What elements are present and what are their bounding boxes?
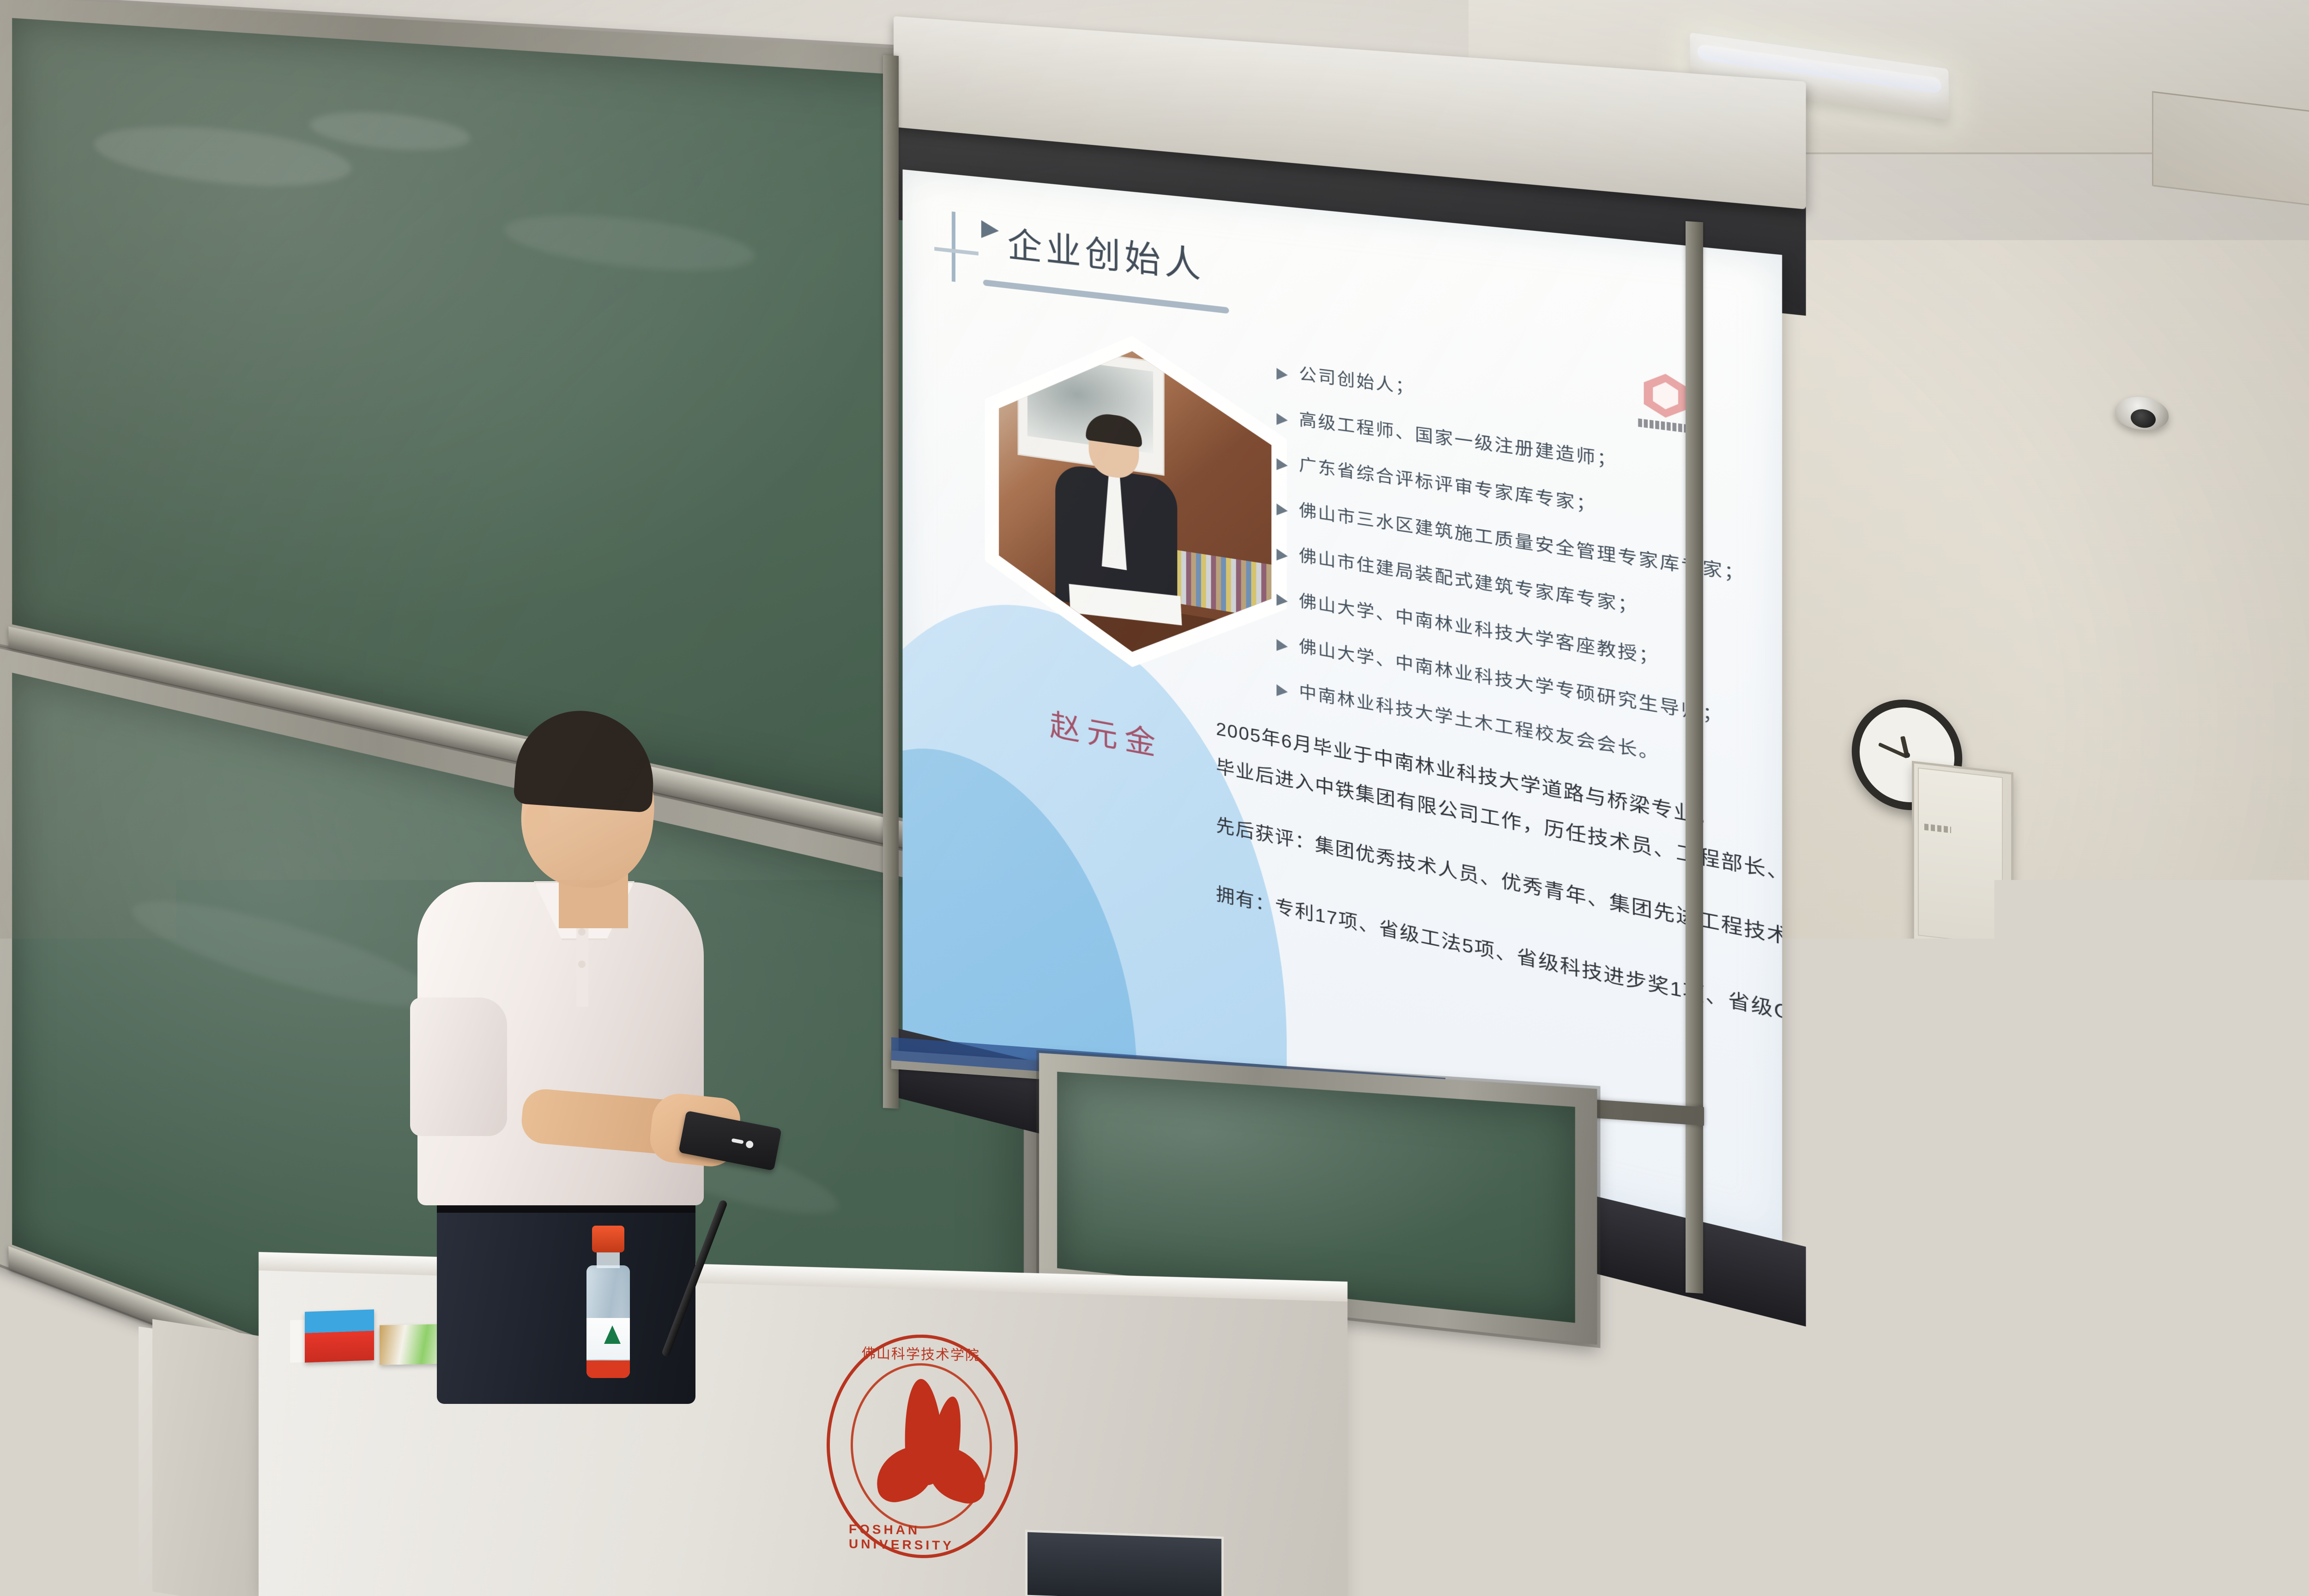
shirt-button <box>578 928 586 936</box>
bottle-label-band <box>586 1360 630 1378</box>
arrow-bullet-icon <box>981 220 999 240</box>
arrow-bullet-icon <box>1276 549 1287 562</box>
shirt-button <box>578 961 586 968</box>
corporate-logo-icon <box>1638 371 1693 440</box>
pine-tree-icon <box>604 1325 621 1344</box>
status-led-red <box>1947 987 1959 1000</box>
bullet-text: 公司创始人； <box>1299 365 1415 399</box>
slide-bullet-item: 公司创始人； <box>1276 362 1415 399</box>
bottle-neck <box>597 1250 620 1268</box>
camera-lens-icon <box>2131 408 2156 429</box>
arrow-bullet-icon <box>1276 684 1287 698</box>
wall-notice-lower <box>2032 1089 2134 1194</box>
screen-frame-post-left <box>883 55 899 1109</box>
wall-small-plate <box>1944 1060 1989 1143</box>
arrow-bullet-icon <box>1276 458 1287 472</box>
slide-title-horizontal-bar <box>934 247 979 256</box>
speaker-trousers <box>437 1187 695 1404</box>
arrow-bullet-icon <box>1276 594 1287 607</box>
podium-control-monitor[interactable] <box>1025 1529 1224 1596</box>
clock-center-pin <box>1904 752 1910 758</box>
bottle-cap <box>592 1226 624 1252</box>
photo-bookshelf <box>1167 549 1271 619</box>
speaker-hair <box>513 707 658 813</box>
status-led-red <box>1966 989 1978 1003</box>
slide-title-vertical-bar <box>952 212 955 282</box>
speaker-sleeve <box>410 997 507 1136</box>
slide-title: 企业创始人 <box>1007 216 1205 289</box>
screen-frame-post-right <box>1686 221 1703 1294</box>
university-name-en: FOSHAN UNIVERSITY <box>849 1522 1021 1554</box>
speaker-ear <box>525 802 550 838</box>
chalk-box <box>305 1309 374 1362</box>
water-bottle <box>583 1226 634 1378</box>
status-led-green <box>1926 985 1938 998</box>
microphone-head-icon <box>683 899 719 950</box>
status-led-green <box>1984 991 1996 1004</box>
panel-upper-door[interactable] <box>1918 768 2003 945</box>
arrow-bullet-icon <box>1276 639 1287 653</box>
bullet-text: 佛山大学、中南林业科技大学专硕研究生导师； <box>1299 637 1724 727</box>
arrow-bullet-icon <box>1276 368 1287 381</box>
classroom-scene: 企业创始人 赵元金 <box>0 0 2309 1596</box>
university-name-cn: 佛山科学技术学院 <box>862 1342 980 1364</box>
university-logo: 佛山科学技术学院 FOSHAN UNIVERSITY <box>827 1333 1021 1553</box>
arrow-bullet-icon <box>1276 503 1287 517</box>
wall-notice-upper <box>2037 928 2136 1079</box>
arrow-bullet-icon <box>1276 413 1287 427</box>
speaker <box>406 711 757 1404</box>
